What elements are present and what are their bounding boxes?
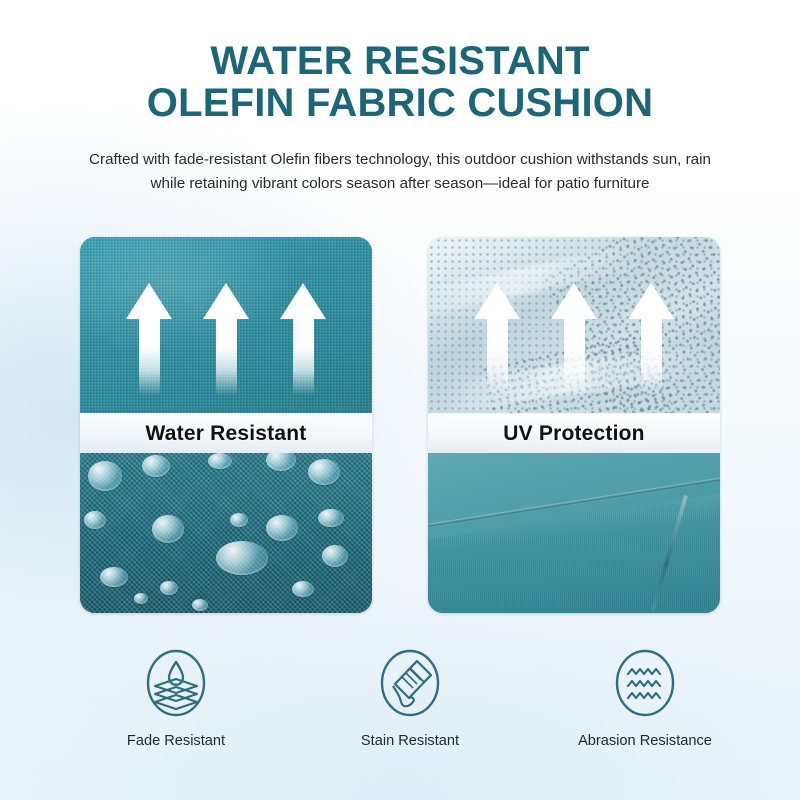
water-droplet — [308, 459, 340, 485]
page-title-line-1: WATER RESISTANT — [0, 40, 800, 82]
arrow-shaft — [293, 318, 314, 395]
water-droplet — [88, 461, 122, 491]
feature-abrasion-resistance: Abrasion Resistance — [535, 648, 755, 750]
panel-band-label: UV Protection — [503, 422, 644, 446]
arrow-shaft — [216, 318, 237, 395]
water-droplets-image — [80, 453, 372, 613]
water-droplet — [134, 593, 148, 604]
water-resistant-fabric-image — [80, 237, 372, 413]
infographic-page: WATER RESISTANT OLEFIN FABRIC CUSHION Cr… — [0, 0, 800, 800]
water-droplet — [208, 453, 232, 469]
subtitle-line-1: Crafted with fade-resistant Olefin fiber… — [0, 148, 800, 172]
water-droplet-large — [216, 541, 268, 575]
feature-panel-uv-protection: UV Protection — [428, 237, 720, 613]
feature-stain-resistant: Stain Resistant — [300, 648, 520, 750]
up-arrow-icon — [126, 283, 172, 395]
wiping-cloth-icon — [379, 648, 441, 718]
up-arrow-icon — [280, 283, 326, 395]
water-droplet — [322, 545, 348, 567]
uv-protection-fabric-image — [428, 237, 720, 413]
arrow-head — [628, 283, 674, 319]
water-droplet — [230, 513, 248, 527]
page-subtitle: Crafted with fade-resistant Olefin fiber… — [0, 148, 800, 196]
water-droplet — [318, 509, 344, 527]
arrow-head — [126, 283, 172, 319]
up-arrow-icon — [203, 283, 249, 395]
cushion-corner-image — [428, 453, 720, 613]
arrow-shaft — [564, 318, 585, 395]
water-droplet — [192, 599, 208, 611]
arrow-head — [203, 283, 249, 319]
feature-label: Abrasion Resistance — [535, 732, 755, 750]
water-droplet — [100, 567, 128, 587]
subtitle-line-2: while retaining vibrant colors season af… — [0, 172, 800, 196]
water-droplet — [142, 455, 170, 477]
arrow-head — [551, 283, 597, 319]
water-droplet — [84, 511, 106, 529]
arrow-shaft — [641, 318, 662, 395]
droplet-layers-icon — [145, 648, 207, 718]
feature-icons-row: Fade Resistant Stain Resistant — [0, 648, 800, 778]
page-title-line-2: OLEFIN FABRIC CUSHION — [0, 82, 800, 124]
water-droplet — [292, 581, 314, 597]
arrow-shaft — [139, 318, 160, 395]
up-arrow-icon — [628, 283, 674, 395]
zigzag-waves-icon — [614, 648, 676, 718]
water-droplet — [152, 515, 184, 543]
feature-label: Stain Resistant — [300, 732, 520, 750]
arrow-head — [280, 283, 326, 319]
uv-protection-label-band: UV Protection — [428, 413, 720, 455]
feature-panel-water-resistant: Water Resistant — [80, 237, 372, 613]
page-header: WATER RESISTANT OLEFIN FABRIC CUSHION — [0, 40, 800, 124]
panel-band-label: Water Resistant — [146, 422, 307, 446]
feature-fade-resistant: Fade Resistant — [66, 648, 286, 750]
water-droplet — [266, 515, 298, 541]
water-droplet — [160, 581, 178, 595]
water-resistant-label-band: Water Resistant — [80, 413, 372, 455]
feature-label: Fade Resistant — [66, 732, 286, 750]
arrow-head — [474, 283, 520, 319]
arrow-shaft — [487, 318, 508, 395]
up-arrow-icon — [474, 283, 520, 395]
up-arrow-icon — [551, 283, 597, 395]
